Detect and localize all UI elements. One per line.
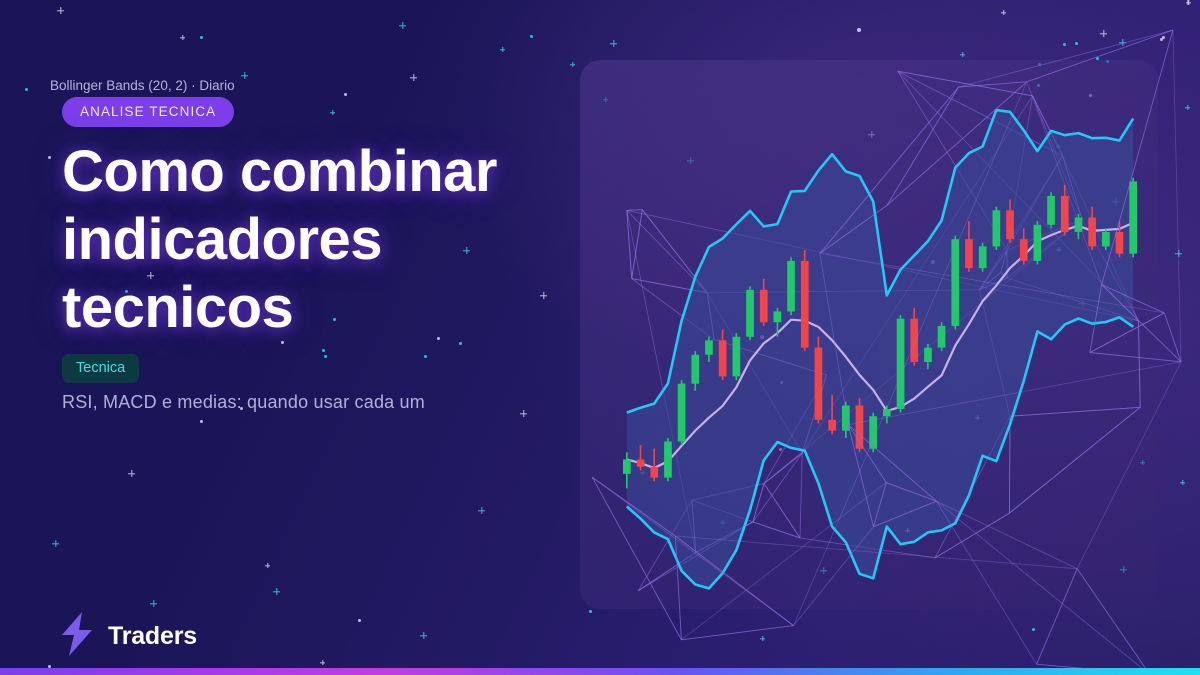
chart-panel: [580, 60, 1158, 609]
star-dot: [48, 156, 51, 159]
bollinger-candlestick-chart: [580, 60, 1158, 609]
star-cross: [1175, 250, 1182, 257]
star-cross: [1180, 480, 1185, 485]
star-cross: [570, 62, 575, 67]
star-dot: [1162, 36, 1165, 39]
title-line-3: tecnicos: [62, 274, 582, 342]
page-subtitle: RSI, MACD e medias: quando usar cada um: [62, 392, 532, 413]
star-cross: [1119, 39, 1126, 46]
star-dot: [857, 28, 861, 32]
category-badge[interactable]: ANALISE TECNICA: [62, 97, 234, 127]
star-cross: [1100, 30, 1107, 37]
star-dot: [589, 610, 592, 613]
page-title: Como combinar indicadores tecnicos: [62, 138, 582, 342]
star-cross: [760, 636, 765, 641]
star-cross: [1185, 105, 1190, 110]
star-cross: [610, 40, 617, 47]
title-line-1: Como combinar: [62, 138, 582, 206]
topic-tag[interactable]: Tecnica: [62, 354, 139, 383]
star-dot: [1075, 42, 1078, 45]
star-cross: [1186, 0, 1191, 5]
title-line-2: indicadores: [62, 206, 582, 274]
star-dot: [25, 88, 28, 91]
lightning-bolt-icon: [60, 612, 94, 661]
star-cross: [960, 52, 965, 57]
star-cross: [1001, 10, 1006, 15]
star-cross: [52, 540, 59, 547]
accent-bar: [0, 668, 1200, 675]
star-dot: [1063, 43, 1066, 46]
star-dot: [1032, 628, 1035, 631]
social-card-canvas: Bollinger Bands (20, 2) · Diario ANALISE…: [0, 0, 1200, 675]
brand-logo[interactable]: Traders: [60, 612, 197, 661]
brand-name: Traders: [108, 622, 197, 651]
hero-text-column: ANALISE TECNICA Como combinar indicadore…: [62, 0, 562, 675]
